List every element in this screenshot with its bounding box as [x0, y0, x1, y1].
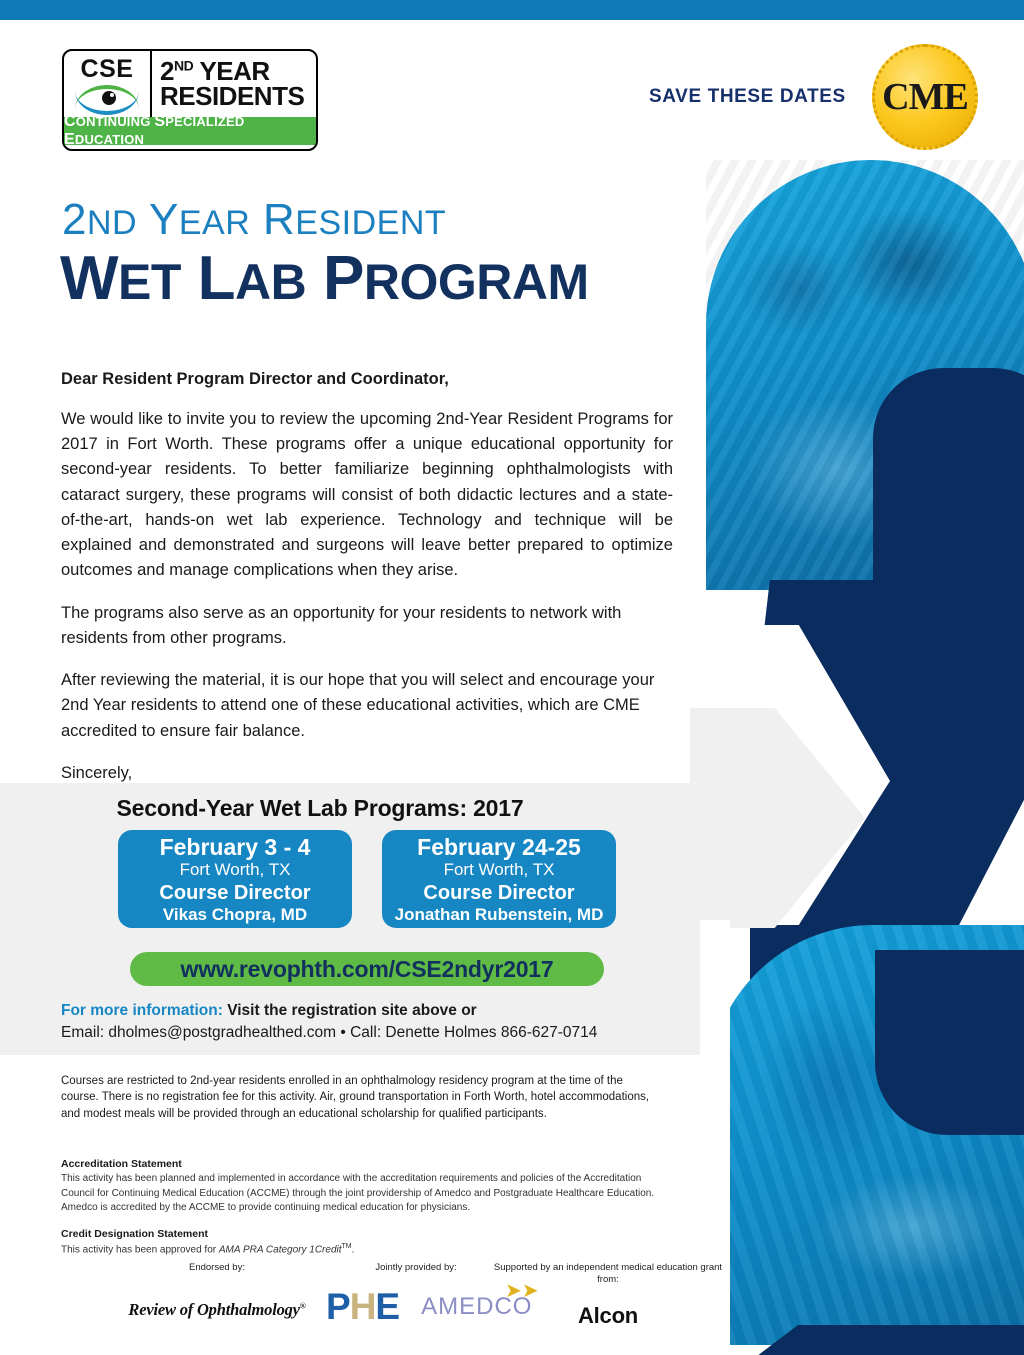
- footer-logos: Endorsed by: Review of Ophthalmology® Jo…: [61, 1262, 681, 1352]
- program-1-role: Course Director: [159, 881, 310, 905]
- contact-info: For more information: Visit the registra…: [61, 1000, 681, 1045]
- hero-graphic-big-two: [690, 20, 1024, 1355]
- cse-abbreviation: CSE: [81, 57, 134, 82]
- credit-body-a: This activity has been approved for: [61, 1244, 219, 1255]
- program-1-date: February 3 - 4: [160, 835, 311, 861]
- page-subtitle: 2ND YEAR RESIDENT: [62, 198, 446, 242]
- jointly-provided-block: Jointly provided by: PHE AMEDCO ➤➤: [326, 1262, 506, 1325]
- registration-url-text: www.revophth.com/CSE2ndyr2017: [181, 956, 554, 983]
- cse-logo-tagline-band: CONTINUING SPECIALIZED EDUCATION: [64, 117, 316, 145]
- phe-logo-p: P: [326, 1286, 350, 1327]
- subtitle-esident: ESIDENT: [295, 204, 446, 242]
- page-title: WET LAB PROGRAM: [60, 248, 589, 310]
- title-w: W: [60, 244, 118, 313]
- credit-body-tm: TM: [342, 1243, 352, 1250]
- program-date-boxes: February 3 - 4 Fort Worth, TX Course Dir…: [118, 830, 616, 928]
- supported-by-block: Supported by an independent medical educ…: [493, 1262, 723, 1329]
- subtitle-2: 2: [62, 195, 87, 244]
- endorsed-by-block: Endorsed by: Review of Ophthalmology®: [127, 1262, 307, 1320]
- letter-body: Dear Resident Program Director and Coord…: [61, 370, 673, 810]
- endorsed-by-caption: Endorsed by:: [127, 1262, 307, 1274]
- credit-heading: Credit Designation Statement: [61, 1228, 661, 1240]
- registered-mark-icon: ®: [300, 1302, 306, 1311]
- program-1-city: Fort Worth, TX: [180, 860, 291, 880]
- more-information-rest: Visit the registration site above or: [223, 1002, 477, 1019]
- top-accent-bar: [0, 0, 1024, 20]
- contact-line-1: For more information: Visit the registra…: [61, 1000, 681, 1022]
- title-ab: AB: [235, 254, 306, 310]
- tagline-continuing: ONTINUING: [76, 114, 155, 129]
- supported-by-caption: Supported by an independent medical educ…: [493, 1262, 723, 1287]
- phe-logo-h: H: [350, 1286, 376, 1327]
- review-of-ophthalmology-logo: Review of Ophthalmology®: [127, 1300, 307, 1320]
- cme-seal-icon: CME: [872, 44, 978, 150]
- cse-logo-line1: 2ND YEAR: [160, 59, 316, 84]
- letter-paragraph-2: The programs also serve as an opportunit…: [61, 601, 673, 651]
- subtitle-y: Y: [137, 195, 179, 244]
- registration-url-button[interactable]: www.revophth.com/CSE2ndyr2017: [130, 952, 604, 986]
- credit-body-category: AMA PRA Category 1Credit: [219, 1244, 342, 1255]
- title-et: ET: [118, 254, 181, 310]
- restrictions-text: Courses are restricted to 2nd-year resid…: [61, 1073, 661, 1122]
- letter-paragraph-3: After reviewing the material, it is our …: [61, 668, 673, 744]
- numeral-bowl-navy-inset: [875, 950, 1024, 1135]
- cse-logo-line2: RESIDENTS: [160, 83, 316, 109]
- phe-logo-e: E: [375, 1286, 399, 1327]
- alcon-logo: Alcon: [493, 1303, 723, 1329]
- tagline-education: DUCATION: [75, 132, 144, 147]
- cse-logo-nd: ND: [174, 57, 193, 73]
- subtitle-ear: EAR: [179, 204, 250, 242]
- program-box-2[interactable]: February 24-25 Fort Worth, TX Course Dir…: [382, 830, 616, 928]
- accreditation-section: Accreditation Statement This activity ha…: [61, 1158, 661, 1257]
- save-these-dates-label: SAVE THESE DATES: [649, 86, 846, 108]
- subtitle-nd: ND: [87, 204, 137, 242]
- more-information-label: For more information:: [61, 1002, 223, 1019]
- program-1-director: Vikas Chopra, MD: [163, 905, 307, 925]
- title-p: P: [306, 244, 364, 313]
- jointly-provided-caption: Jointly provided by:: [326, 1262, 506, 1274]
- letter-closing: Sincerely,: [61, 761, 673, 786]
- program-2-date: February 24-25: [417, 835, 581, 861]
- tagline-c: C: [64, 113, 76, 130]
- accreditation-body: This activity has been planned and imple…: [61, 1172, 661, 1216]
- cme-seal-text: CME: [882, 75, 968, 119]
- letter-salutation: Dear Resident Program Director and Coord…: [61, 370, 673, 389]
- cse-logo-right: 2ND YEAR RESIDENTS: [152, 51, 316, 117]
- program-2-city: Fort Worth, TX: [444, 860, 555, 880]
- phe-logo: PHE: [326, 1288, 399, 1325]
- title-l: L: [181, 244, 235, 313]
- tagline-specialized: PECIALIZED: [165, 114, 244, 129]
- eye-icon: [75, 85, 139, 111]
- programs-heading: Second-Year Wet Lab Programs: 2017: [0, 795, 700, 822]
- tagline-s: S: [154, 113, 165, 130]
- program-box-1[interactable]: February 3 - 4 Fort Worth, TX Course Dir…: [118, 830, 352, 928]
- program-2-director: Jonathan Rubenstein, MD: [395, 905, 604, 925]
- subtitle-r: R: [250, 195, 295, 244]
- contact-line-2: Email: dholmes@postgradhealthed.com • Ca…: [61, 1022, 681, 1044]
- tagline-e: E: [64, 131, 75, 148]
- title-rogram: ROGRAM: [364, 254, 589, 310]
- credit-body: This activity has been approved for AMA …: [61, 1242, 661, 1258]
- cse-logo-left: CSE: [64, 51, 152, 117]
- letter-paragraph-1: We would like to invite you to review th…: [61, 407, 673, 584]
- program-2-role: Course Director: [423, 881, 574, 905]
- review-of-ophthalmology-text: Review of Ophthalmology: [128, 1300, 299, 1319]
- credit-body-period: .: [352, 1244, 355, 1255]
- cse-logo: CSE 2ND YEAR RESIDENTS CONTINUING SPECIA…: [62, 49, 318, 151]
- accreditation-heading: Accreditation Statement: [61, 1158, 661, 1170]
